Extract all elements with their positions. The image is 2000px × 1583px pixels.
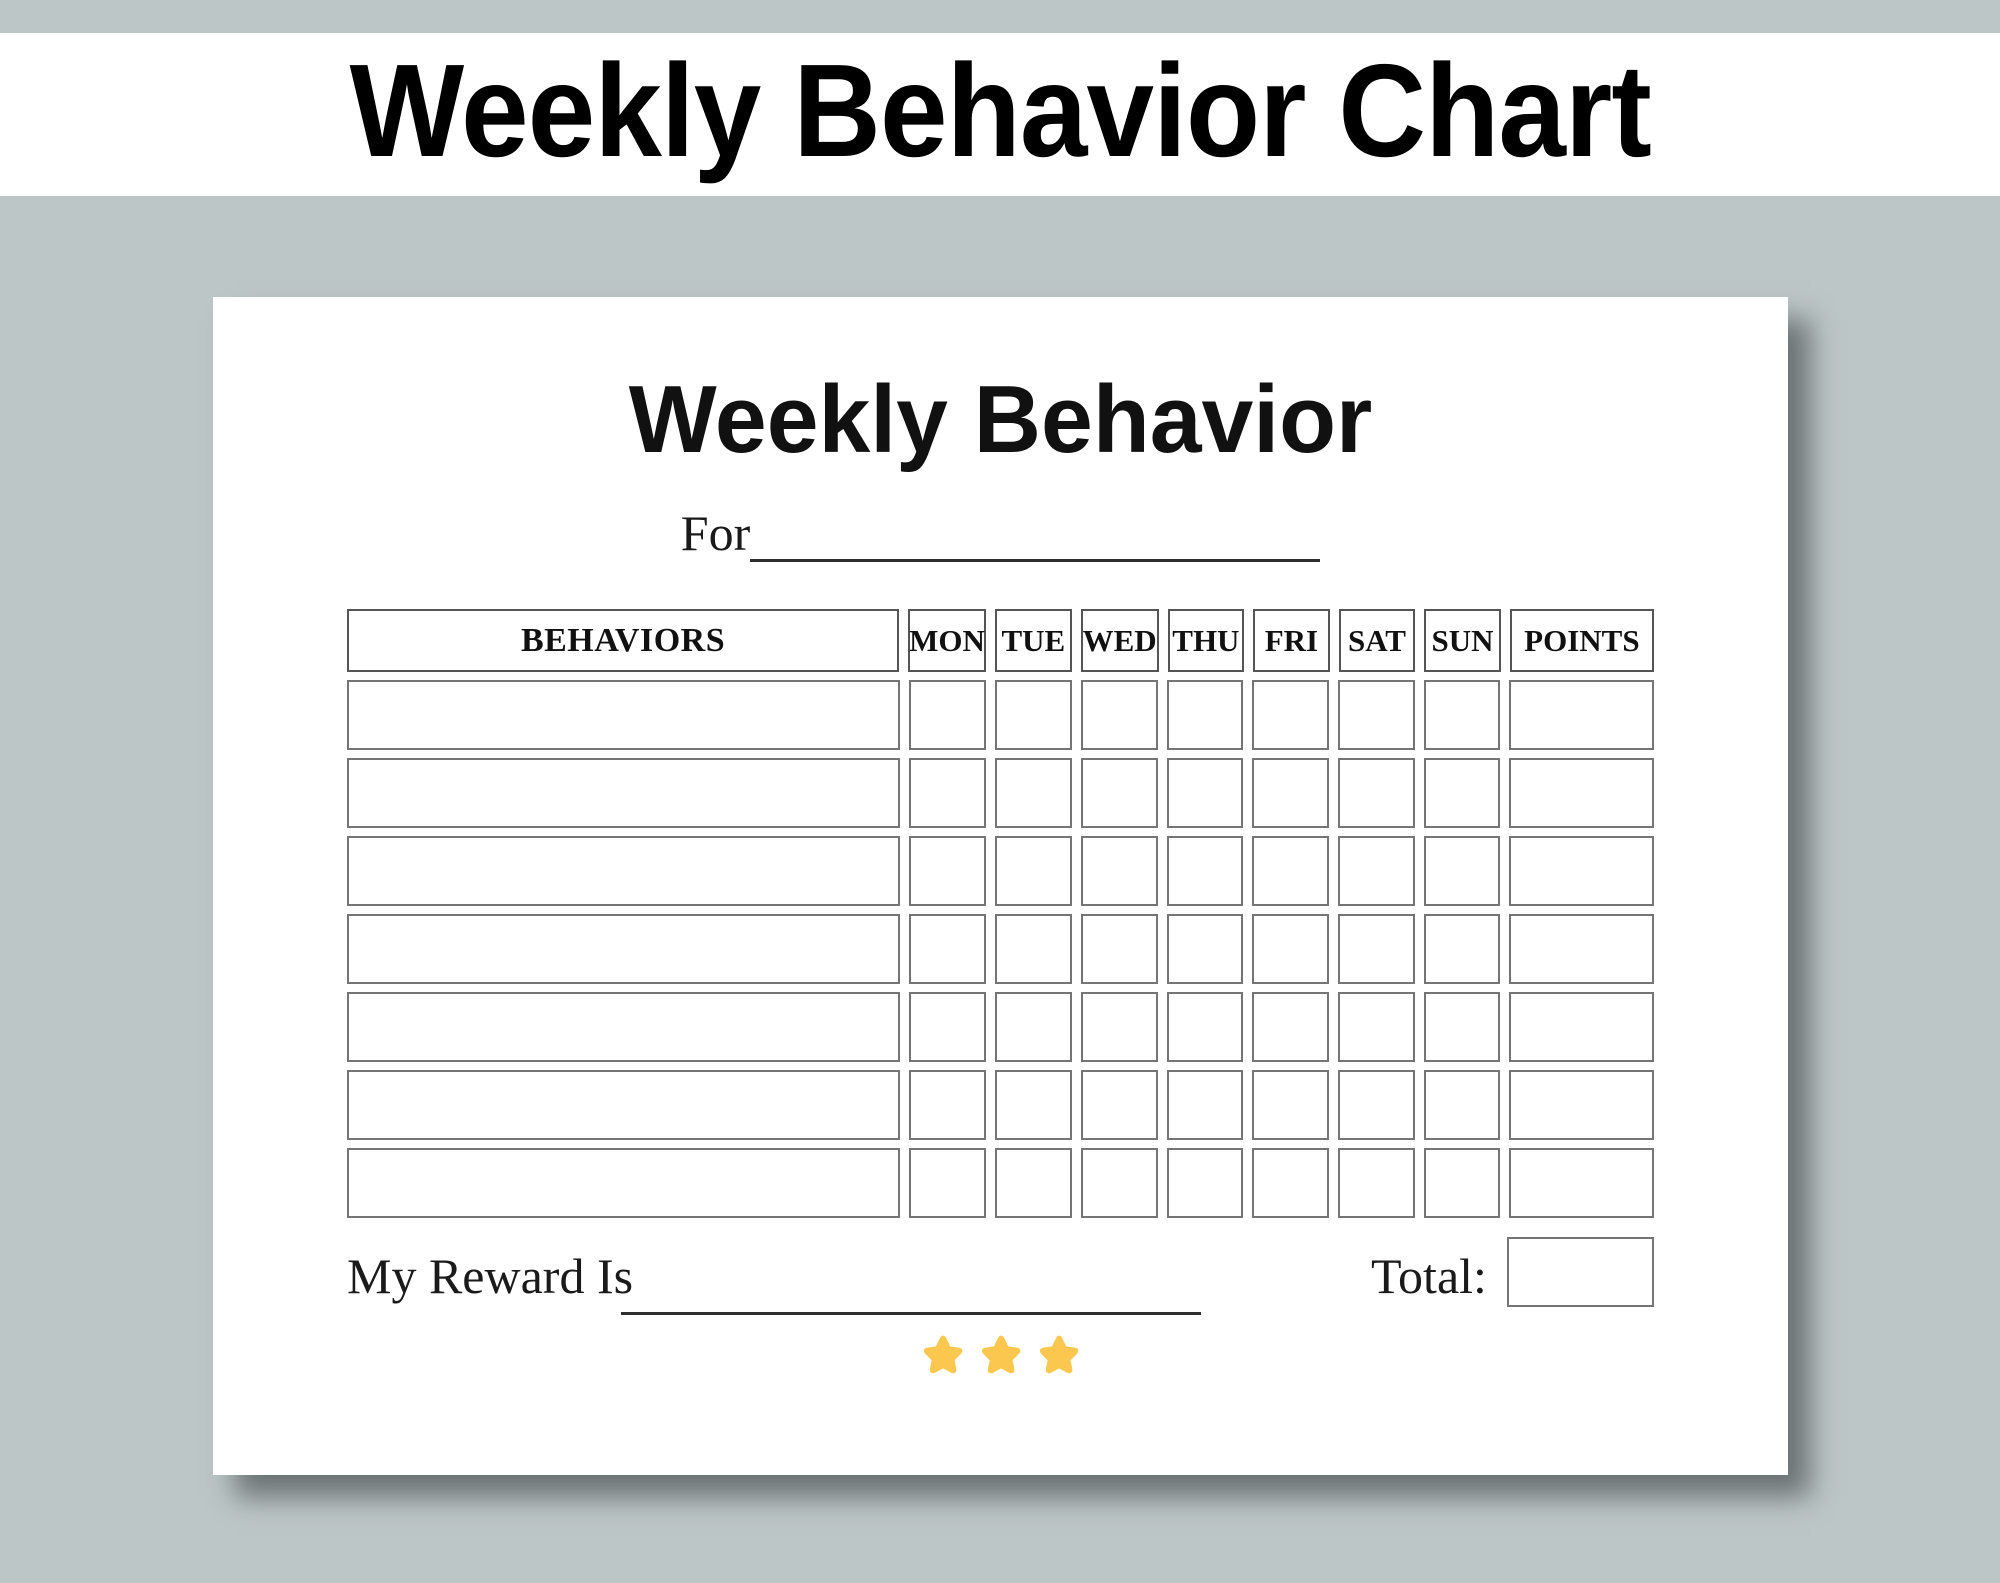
day-input-cell-fri[interactable] (1252, 992, 1329, 1062)
day-input-cell-tue[interactable] (995, 680, 1072, 750)
day-input-cell-sun[interactable] (1424, 992, 1501, 1062)
header-cell-behaviors: BEHAVIORS (347, 609, 899, 672)
day-input-cell-thu[interactable] (1167, 836, 1244, 906)
day-input-cell-mon[interactable] (909, 758, 986, 828)
day-input-cell-mon[interactable] (909, 836, 986, 906)
day-input-cell-wed[interactable] (1081, 680, 1158, 750)
day-input-cell-sun[interactable] (1424, 914, 1501, 984)
behavior-input-cell[interactable] (347, 992, 900, 1062)
header-label-sun: SUN (1432, 625, 1494, 656)
day-input-cell-fri[interactable] (1252, 836, 1329, 906)
day-input-cell-sun[interactable] (1424, 758, 1501, 828)
star-icon (1035, 1332, 1083, 1380)
worksheet-card: Weekly Behavior For BEHAVIORS MON TUE WE… (213, 297, 1788, 1475)
day-input-cell-fri[interactable] (1252, 914, 1329, 984)
table-row (347, 992, 1654, 1062)
page-title: Weekly Behavior Chart (349, 45, 1650, 185)
worksheet-title: Weekly Behavior (237, 372, 1765, 468)
table-header-row: BEHAVIORS MON TUE WED THU FRI SAT SUN (347, 609, 1654, 672)
header-cell-sat: SAT (1339, 609, 1416, 672)
day-input-cell-wed[interactable] (1081, 758, 1158, 828)
header-cell-mon: MON (908, 609, 986, 672)
day-input-cell-tue[interactable] (995, 758, 1072, 828)
star-icon (977, 1332, 1025, 1380)
day-input-cell-thu[interactable] (1167, 1070, 1244, 1140)
behavior-input-cell[interactable] (347, 836, 900, 906)
day-input-cell-mon[interactable] (909, 1148, 986, 1218)
stars-decoration (213, 1332, 1788, 1380)
points-input-cell[interactable] (1509, 1070, 1654, 1140)
day-input-cell-fri[interactable] (1252, 1148, 1329, 1218)
points-input-cell[interactable] (1509, 1148, 1654, 1218)
day-input-cell-mon[interactable] (909, 680, 986, 750)
points-input-cell[interactable] (1509, 680, 1654, 750)
table-row (347, 680, 1654, 750)
points-input-cell[interactable] (1509, 914, 1654, 984)
behavior-input-cell[interactable] (347, 1070, 900, 1140)
table-row (347, 1148, 1654, 1218)
day-input-cell-sun[interactable] (1424, 680, 1501, 750)
day-input-cell-tue[interactable] (995, 992, 1072, 1062)
header-cell-sun: SUN (1424, 609, 1501, 672)
day-input-cell-sat[interactable] (1338, 758, 1415, 828)
header-cell-thu: THU (1168, 609, 1245, 672)
day-input-cell-tue[interactable] (995, 914, 1072, 984)
day-input-cell-wed[interactable] (1081, 1148, 1158, 1218)
header-label-behaviors: BEHAVIORS (521, 624, 725, 658)
total-label: Total: (1371, 1251, 1487, 1301)
header-cell-wed: WED (1081, 609, 1159, 672)
table-row (347, 1070, 1654, 1140)
header-cell-tue: TUE (995, 609, 1072, 672)
for-label: For (681, 508, 750, 558)
page-banner: Weekly Behavior Chart (0, 33, 2000, 196)
table-row (347, 758, 1654, 828)
day-input-cell-sat[interactable] (1338, 914, 1415, 984)
header-label-points: POINTS (1524, 625, 1639, 656)
header-label-sat: SAT (1348, 625, 1406, 656)
behavior-input-cell[interactable] (347, 914, 900, 984)
points-input-cell[interactable] (1509, 836, 1654, 906)
points-input-cell[interactable] (1509, 758, 1654, 828)
header-label-thu: THU (1172, 625, 1239, 656)
day-input-cell-sat[interactable] (1338, 680, 1415, 750)
day-input-cell-fri[interactable] (1252, 680, 1329, 750)
behavior-table: BEHAVIORS MON TUE WED THU FRI SAT SUN (347, 609, 1654, 1226)
day-input-cell-fri[interactable] (1252, 758, 1329, 828)
day-input-cell-sun[interactable] (1424, 836, 1501, 906)
day-input-cell-wed[interactable] (1081, 1070, 1158, 1140)
day-input-cell-wed[interactable] (1081, 992, 1158, 1062)
day-input-cell-sat[interactable] (1338, 1070, 1415, 1140)
header-cell-points: POINTS (1510, 609, 1654, 672)
day-input-cell-thu[interactable] (1167, 992, 1244, 1062)
day-input-cell-sun[interactable] (1424, 1070, 1501, 1140)
table-row (347, 836, 1654, 906)
table-row (347, 914, 1654, 984)
day-input-cell-mon[interactable] (909, 1070, 986, 1140)
day-input-cell-sun[interactable] (1424, 1148, 1501, 1218)
for-name-input-line[interactable] (750, 559, 1320, 562)
day-input-cell-wed[interactable] (1081, 836, 1158, 906)
star-icon (919, 1332, 967, 1380)
day-input-cell-tue[interactable] (995, 1148, 1072, 1218)
for-name-row: For (213, 502, 1788, 562)
day-input-cell-sat[interactable] (1338, 992, 1415, 1062)
day-input-cell-thu[interactable] (1167, 1148, 1244, 1218)
behavior-input-cell[interactable] (347, 680, 900, 750)
header-label-tue: TUE (1001, 625, 1065, 656)
day-input-cell-sat[interactable] (1338, 1148, 1415, 1218)
reward-label: My Reward Is (347, 1251, 633, 1301)
total-input-box[interactable] (1507, 1237, 1654, 1307)
day-input-cell-fri[interactable] (1252, 1070, 1329, 1140)
day-input-cell-wed[interactable] (1081, 914, 1158, 984)
day-input-cell-thu[interactable] (1167, 758, 1244, 828)
day-input-cell-mon[interactable] (909, 992, 986, 1062)
behavior-input-cell[interactable] (347, 1148, 900, 1218)
day-input-cell-tue[interactable] (995, 836, 1072, 906)
day-input-cell-thu[interactable] (1167, 914, 1244, 984)
behavior-input-cell[interactable] (347, 758, 900, 828)
day-input-cell-mon[interactable] (909, 914, 986, 984)
reward-input-line[interactable] (621, 1312, 1201, 1315)
day-input-cell-tue[interactable] (995, 1070, 1072, 1140)
header-cell-fri: FRI (1253, 609, 1330, 672)
points-input-cell[interactable] (1509, 992, 1654, 1062)
header-label-fri: FRI (1265, 625, 1318, 656)
header-label-mon: MON (909, 625, 985, 656)
header-label-wed: WED (1083, 625, 1157, 656)
day-input-cell-sat[interactable] (1338, 836, 1415, 906)
day-input-cell-thu[interactable] (1167, 680, 1244, 750)
